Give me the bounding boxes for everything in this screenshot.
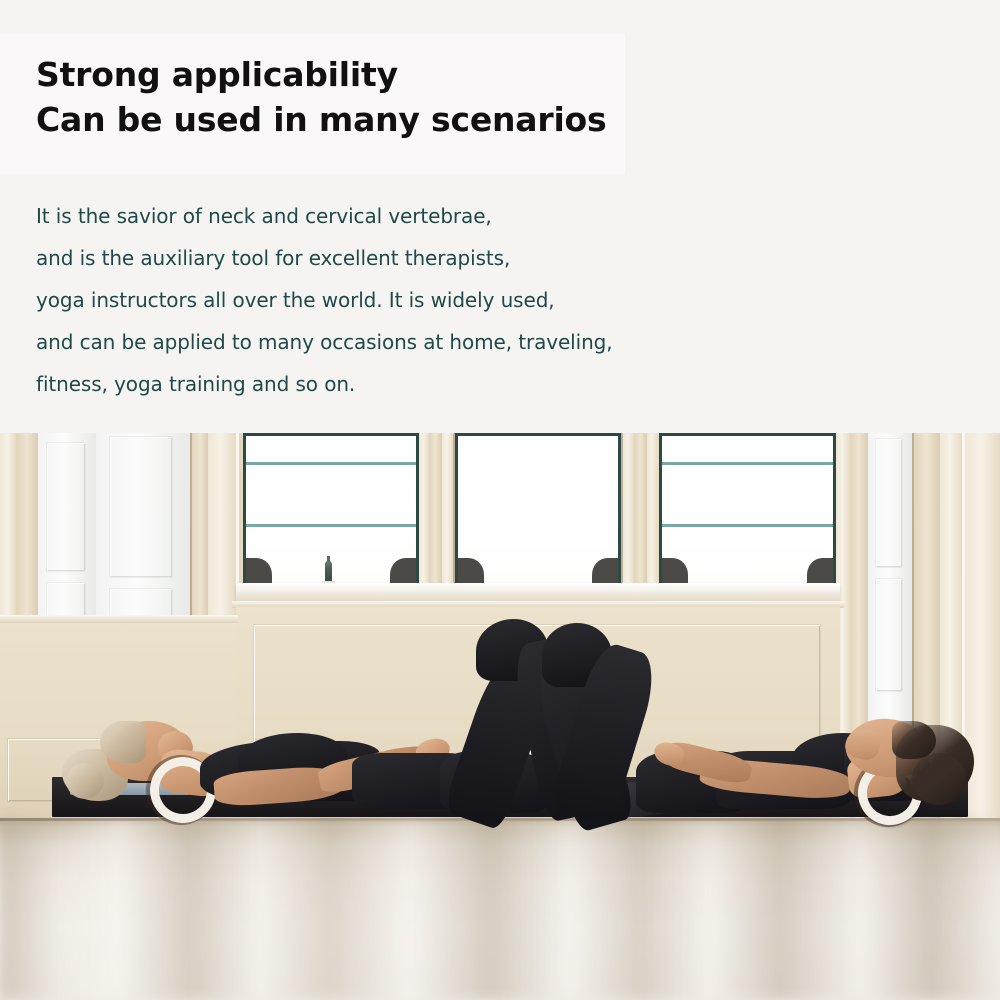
sash-window-right [659,433,836,586]
hair-bun-dark [912,753,966,805]
lifestyle-photo [0,433,1000,1000]
glazing-bar-right-upper [662,462,833,465]
window-corner-shadow-left-r [390,558,416,586]
window-glass-right [662,436,833,583]
heading-line-1: Strong applicability [36,52,736,97]
product-detail-page: Strong applicability Can be used in many… [0,0,1000,1000]
window-corner-shadow-center-r [592,558,618,586]
glazing-bar-left-upper [246,462,416,465]
wooden-floor [0,818,1000,1000]
hairline-dark [892,721,936,759]
sash-window-left [243,433,419,586]
window-sill [236,583,840,603]
door-panel-3a [876,439,902,567]
hair-bun-blonde [66,763,104,799]
description-line-3: yoga instructors all over the world. It … [36,279,816,321]
page-title: Strong applicability Can be used in many… [36,52,736,142]
glazing-bar-left-lower [246,524,416,527]
floor-reflections [0,818,1000,1000]
hairline-blonde [100,721,146,763]
door-panel-1a [47,443,85,571]
window-glass-center [458,436,618,583]
door-panel-3b [876,579,902,691]
sash-window-center [455,433,621,586]
sill-return-left [0,615,238,623]
heading-line-2: Can be used in many scenarios [36,97,736,142]
bottle-on-sill [325,561,332,583]
description-line-5: fitness, yoga training and so on. [36,363,816,405]
description-line-2: and is the auxiliary tool for excellent … [36,237,816,279]
description-line-1: It is the savior of neck and cervical ve… [36,195,816,237]
window-corner-shadow-right-r [807,558,833,586]
text-panel: Strong applicability Can be used in many… [0,0,1000,433]
description-line-4: and can be applied to many occasions at … [36,321,816,363]
glazing-bar-right-lower [662,524,833,527]
description-paragraph: It is the savior of neck and cervical ve… [36,195,816,405]
